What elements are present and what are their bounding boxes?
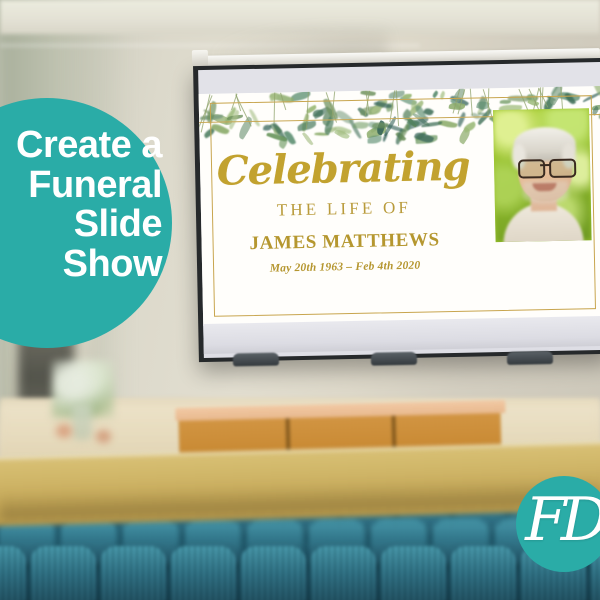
headline-line: Slide bbox=[0, 205, 162, 245]
glasses-lens-right bbox=[549, 158, 576, 178]
slide-script-title: Celebrating bbox=[216, 147, 471, 192]
headline-line: Create a bbox=[0, 126, 162, 166]
brand-monogram: FD bbox=[516, 476, 600, 572]
brand-badge: FD bbox=[516, 476, 600, 572]
headline-line: Show bbox=[0, 245, 162, 285]
flower-bloom-left bbox=[56, 424, 72, 438]
screen-weight-bar bbox=[233, 353, 279, 367]
screen-weight-bar bbox=[507, 351, 553, 365]
flower-bloom-right bbox=[96, 430, 111, 443]
funeral-slide: Celebrating THE LIFE OF JAMES MATTHEWS M… bbox=[199, 86, 600, 326]
projector-screen: Celebrating THE LIFE OF JAMES MATTHEWS M… bbox=[193, 58, 600, 366]
roller-end-cap bbox=[192, 50, 208, 66]
headline-text: Create aFuneralSlideShow bbox=[0, 126, 176, 284]
leaf bbox=[431, 90, 438, 98]
scene-photograph: Celebrating THE LIFE OF JAMES MATTHEWS M… bbox=[0, 0, 600, 600]
headline-line: Funeral bbox=[0, 166, 162, 206]
glasses-bridge bbox=[540, 164, 550, 166]
portrait-photo bbox=[493, 108, 592, 242]
screen-weight-bar bbox=[371, 352, 417, 366]
flower-vase bbox=[72, 404, 92, 440]
portrait-glasses bbox=[518, 159, 572, 175]
glasses-lens-left bbox=[518, 159, 545, 179]
